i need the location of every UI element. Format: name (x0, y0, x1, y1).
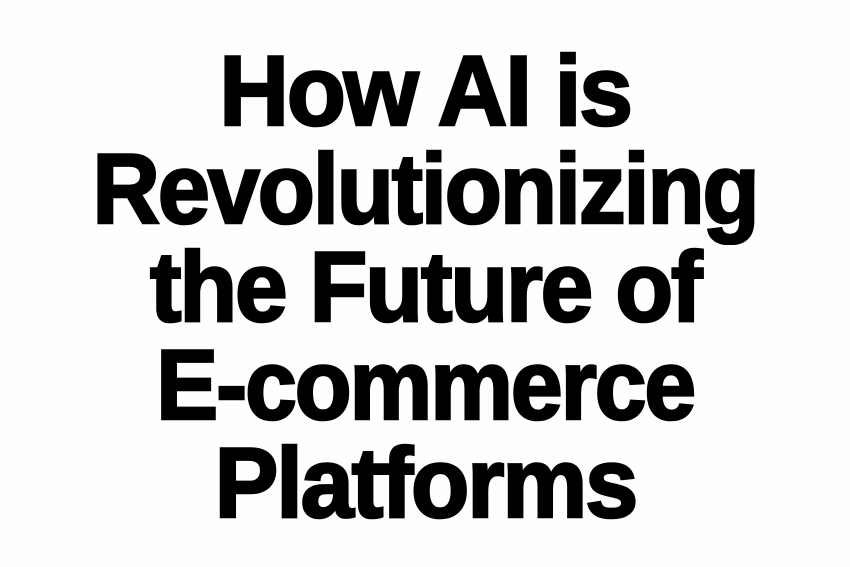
headline-line-5: Platforms (0, 434, 850, 532)
title-card-canvas: How AI is Revolutionizing the Future of … (0, 0, 850, 567)
headline-line-4-text: E-commerce (156, 336, 694, 434)
headline-line-3-text: the Future of (150, 238, 700, 336)
headline-line-4: E-commerce (0, 336, 850, 434)
headline-line-1: How AI is (0, 42, 850, 140)
headline-line-5-text: Platforms (214, 434, 636, 532)
headline-block: How AI is Revolutionizing the Future of … (0, 0, 850, 567)
headline-line-1-text: How AI is (219, 42, 631, 140)
headline-line-2: Revolutionizing (0, 140, 850, 238)
headline-line-2-text: Revolutionizing (92, 140, 757, 238)
headline-line-3: the Future of (0, 238, 850, 336)
